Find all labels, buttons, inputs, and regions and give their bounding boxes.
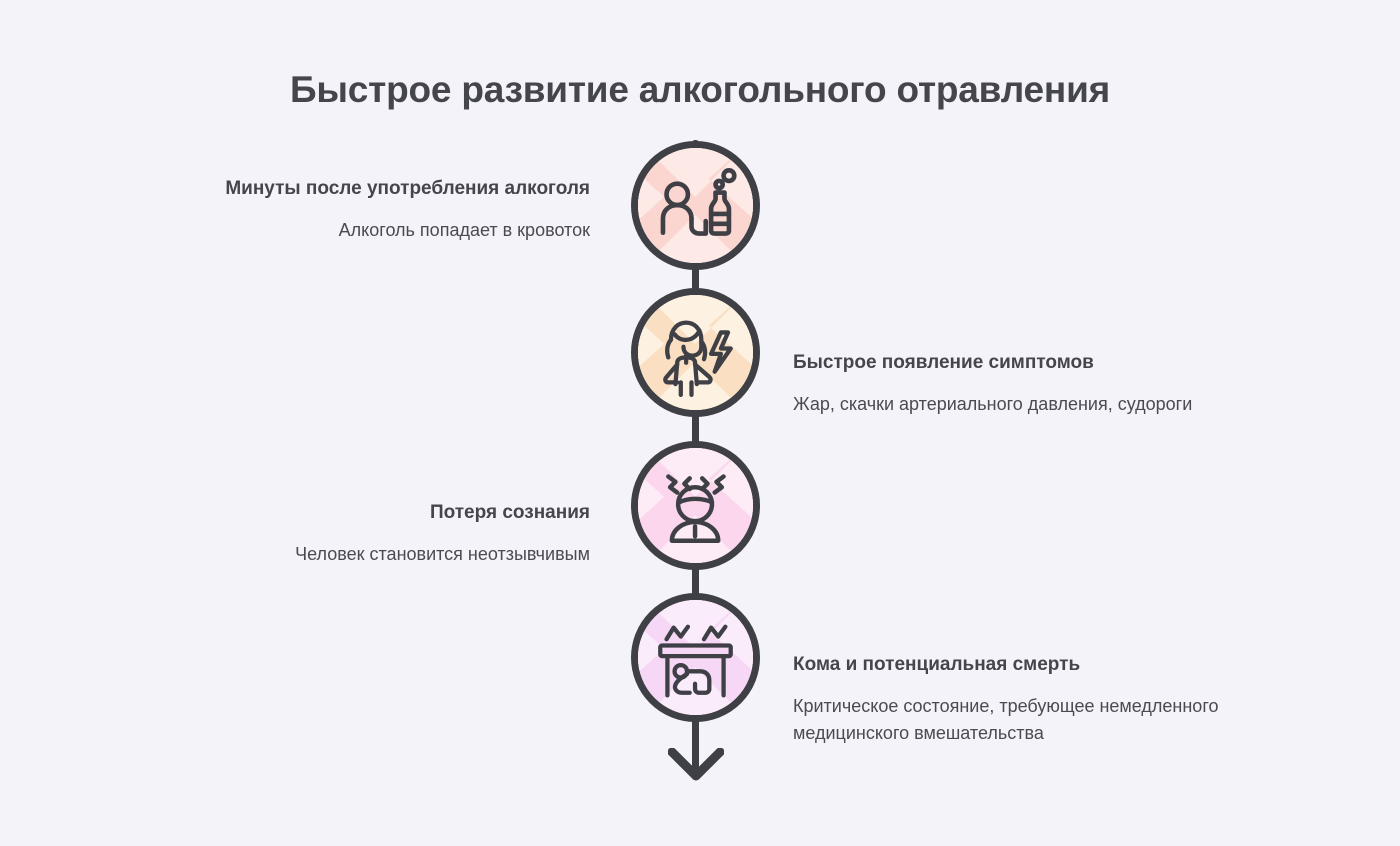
step-2-description: Жар, скачки артериального давления, судо… xyxy=(793,391,1238,418)
person-under-table-icon xyxy=(638,600,753,715)
step-3-description: Человек становится неотзывчивым xyxy=(150,541,590,568)
step-1-description: Алкоголь попадает в кровоток xyxy=(150,217,590,244)
timeline-node-2[interactable] xyxy=(631,288,760,417)
timeline-step-2-text: Быстрое появление симптомов Жар, скачки … xyxy=(793,350,1238,418)
timeline-step-3-text: Потеря сознания Человек становится неотз… xyxy=(150,500,590,568)
step-1-heading: Минуты после употребления алкоголя xyxy=(150,176,590,203)
timeline-node-3[interactable] xyxy=(631,441,760,570)
unconscious-person-icon xyxy=(638,448,753,563)
infographic-canvas: Быстрое развитие алкогольного отравления xyxy=(0,0,1400,846)
down-arrow-icon xyxy=(668,748,724,782)
step-3-heading: Потеря сознания xyxy=(150,500,590,527)
person-with-bottle-icon xyxy=(638,148,753,263)
step-4-description: Критическое состояние, требующее немедле… xyxy=(793,693,1238,748)
page-title: Быстрое развитие алкогольного отравления xyxy=(0,69,1400,111)
person-with-lightning-icon xyxy=(638,295,753,410)
timeline-node-1[interactable] xyxy=(631,141,760,270)
step-2-heading: Быстрое появление симптомов xyxy=(793,350,1238,377)
step-4-heading: Кома и потенциальная смерть xyxy=(793,652,1238,679)
timeline-step-4-text: Кома и потенциальная смерть Критическое … xyxy=(793,652,1238,748)
timeline-step-1-text: Минуты после употребления алкоголя Алког… xyxy=(150,176,590,244)
timeline-node-4[interactable] xyxy=(631,593,760,722)
